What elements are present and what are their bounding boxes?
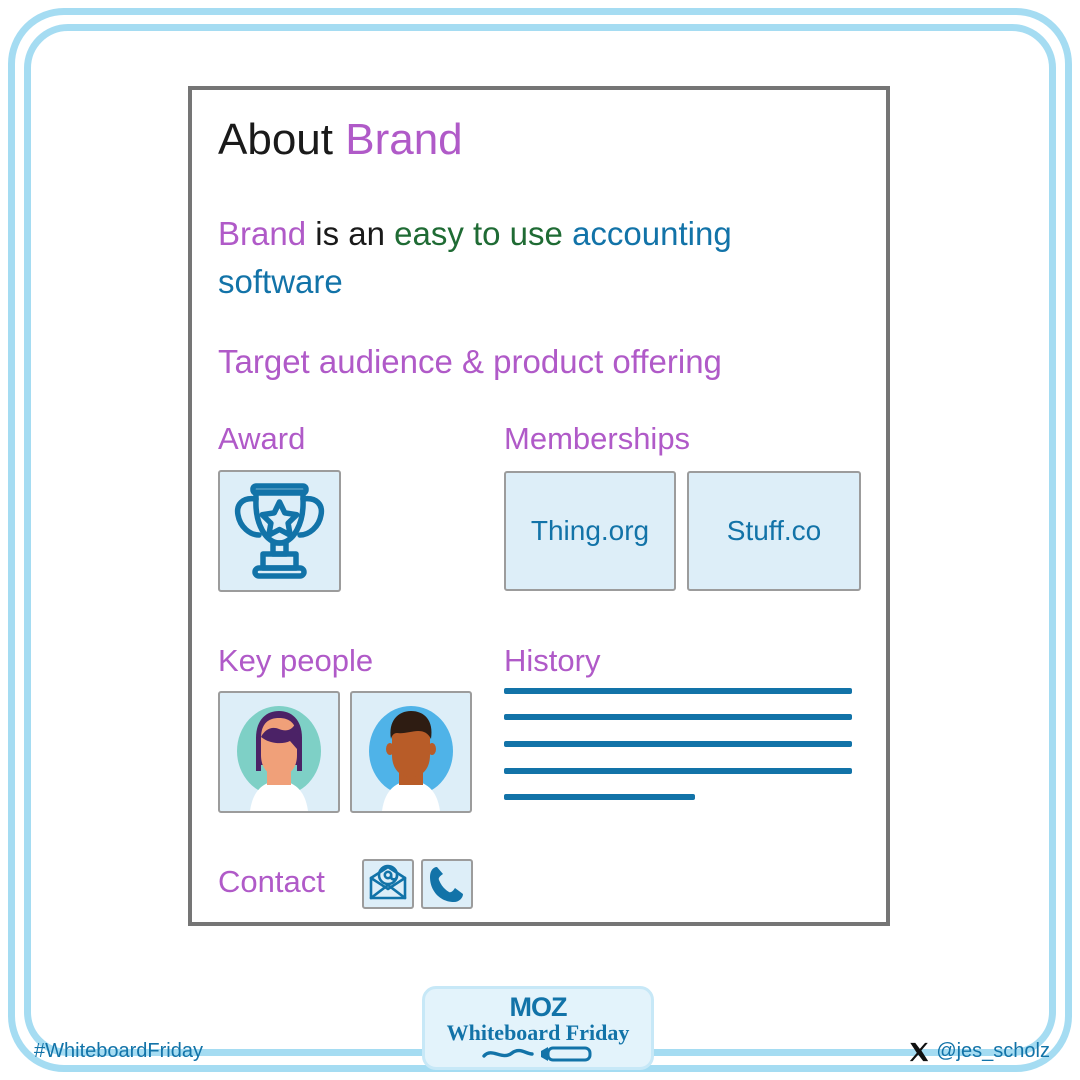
hashtag-label: #WhiteboardFriday — [34, 1040, 203, 1063]
moz-whiteboard-friday-badge: MOZ Whiteboard Friday — [422, 986, 654, 1070]
tagline: Brand is an easy to use accounting softw… — [218, 210, 828, 306]
x-logo-icon — [908, 1041, 930, 1063]
page-title-brand: Brand — [345, 115, 462, 164]
whiteboard-friday-text: Whiteboard Friday — [447, 1022, 630, 1044]
award-card[interactable] — [218, 470, 341, 592]
history-line-2 — [504, 741, 852, 747]
key-people-label: Key people — [218, 645, 373, 676]
contact-phone-button[interactable] — [421, 859, 473, 909]
person-card-1[interactable] — [350, 691, 472, 813]
history-lines — [504, 688, 852, 806]
membership-card-1[interactable]: Stuff.co — [687, 471, 861, 591]
history-line-3 — [504, 768, 852, 774]
email-icon — [364, 861, 412, 907]
tagline-brand: Brand — [218, 215, 306, 252]
award-label: Award — [218, 423, 305, 454]
trophy-icon — [220, 472, 339, 590]
membership-name-1: Stuff.co — [727, 515, 821, 547]
tagline-attribute: easy to use — [394, 215, 572, 252]
tagline-connector: is an — [306, 215, 394, 252]
memberships-label: Memberships — [504, 423, 690, 454]
social-handle: @jes_scholz — [908, 1040, 1050, 1063]
whiteboard-panel: About Brand Brand is an easy to use acco… — [188, 86, 890, 926]
person-card-0[interactable] — [218, 691, 340, 813]
social-handle-text: @jes_scholz — [936, 1040, 1050, 1063]
membership-name-0: Thing.org — [531, 515, 649, 547]
membership-card-0[interactable]: Thing.org — [504, 471, 676, 591]
avatar-woman-icon — [220, 693, 338, 811]
marker-squiggle-icon — [478, 1045, 598, 1063]
history-line-1 — [504, 714, 852, 720]
contact-email-button[interactable] — [362, 859, 414, 909]
avatar-man-icon — [352, 693, 470, 811]
history-line-0 — [504, 688, 852, 694]
target-audience-line: Target audience & product offering — [218, 345, 722, 378]
phone-icon — [423, 861, 471, 907]
history-line-4 — [504, 794, 695, 800]
screenshot-root: About Brand Brand is an easy to use acco… — [0, 0, 1080, 1080]
contact-label: Contact — [218, 866, 325, 897]
moz-logo-text: MOZ — [510, 994, 567, 1021]
page-title-static: About — [218, 115, 345, 164]
page-title: About Brand — [218, 118, 463, 162]
history-label: History — [504, 645, 600, 676]
